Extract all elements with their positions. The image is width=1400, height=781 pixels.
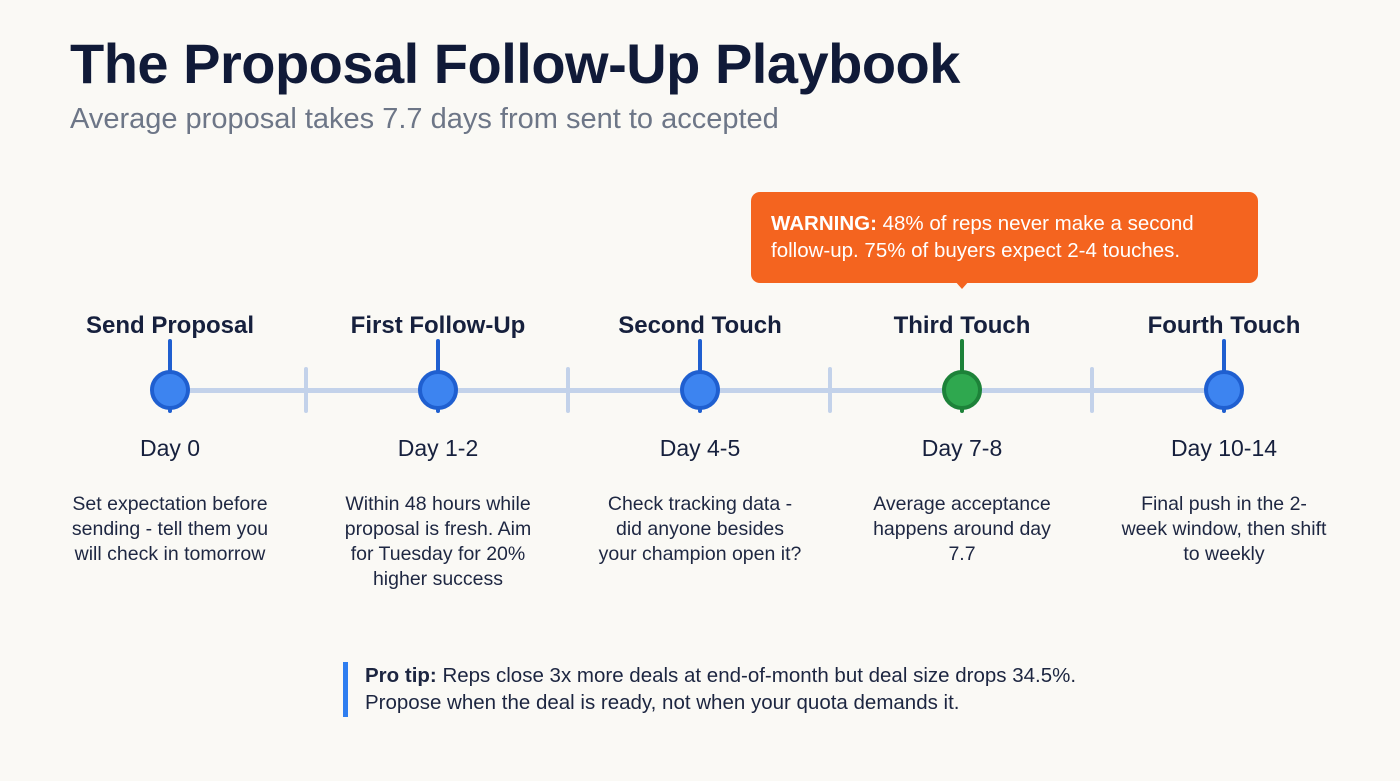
warning-text: WARNING: 48% of reps never make a second… bbox=[771, 210, 1238, 264]
pro-tip-text: Pro tip: Reps close 3x more deals at end… bbox=[365, 662, 1083, 717]
pro-tip-label: Pro tip: bbox=[365, 664, 437, 687]
page-title: The Proposal Follow-Up Playbook bbox=[70, 34, 1330, 94]
step-node-stem bbox=[698, 339, 702, 413]
step-title: Send Proposal bbox=[39, 312, 301, 341]
step-day-label: Day 1-2 bbox=[307, 435, 569, 462]
page-subtitle: Average proposal takes 7.7 days from sen… bbox=[70, 102, 1330, 137]
timeline-tick bbox=[304, 367, 308, 413]
step-node-stem bbox=[1222, 339, 1226, 413]
step-description: Check tracking data - did anyone besides… bbox=[595, 492, 805, 567]
step-node-dot-blue[interactable] bbox=[150, 370, 190, 410]
warning-label: WARNING: bbox=[771, 212, 877, 235]
step-title: First Follow-Up bbox=[307, 312, 569, 341]
timeline-tick bbox=[566, 367, 570, 413]
step-node-dot-green[interactable] bbox=[942, 370, 982, 410]
step-title: Second Touch bbox=[569, 312, 831, 341]
step-title: Fourth Touch bbox=[1093, 312, 1355, 341]
step-node-stem bbox=[436, 339, 440, 413]
step-description: Average acceptance happens around day 7.… bbox=[857, 492, 1067, 567]
step-node-stem bbox=[960, 339, 964, 413]
pro-tip-callout: Pro tip: Reps close 3x more deals at end… bbox=[343, 662, 1083, 717]
step-node-dot-blue[interactable] bbox=[418, 370, 458, 410]
step-day-label: Day 4-5 bbox=[569, 435, 831, 462]
step-description: Within 48 hours while proposal is fresh.… bbox=[333, 492, 543, 593]
step-title: Third Touch bbox=[831, 312, 1093, 341]
header: The Proposal Follow-Up Playbook Average … bbox=[70, 34, 1330, 137]
step-day-label: Day 10-14 bbox=[1093, 435, 1355, 462]
step-day-label: Day 7-8 bbox=[831, 435, 1093, 462]
step-node-stem bbox=[168, 339, 172, 413]
warning-callout: WARNING: 48% of reps never make a second… bbox=[751, 192, 1258, 283]
step-node-dot-blue[interactable] bbox=[680, 370, 720, 410]
step-day-label: Day 0 bbox=[39, 435, 301, 462]
step-node-dot-blue[interactable] bbox=[1204, 370, 1244, 410]
timeline-tick bbox=[828, 367, 832, 413]
step-description: Final push in the 2-week window, then sh… bbox=[1119, 492, 1329, 567]
pro-tip-body: Reps close 3x more deals at end-of-month… bbox=[365, 664, 1076, 714]
timeline-tick bbox=[1090, 367, 1094, 413]
step-description: Set expectation before sending - tell th… bbox=[65, 492, 275, 567]
warning-callout-tail-icon bbox=[946, 271, 978, 289]
timeline-track bbox=[170, 388, 1224, 393]
